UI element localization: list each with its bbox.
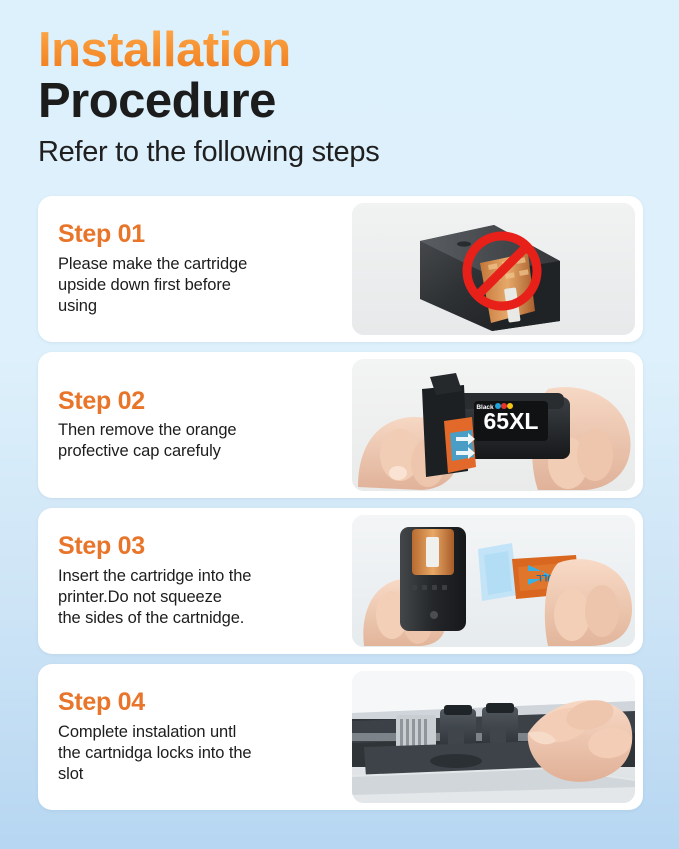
page-title-line-2: Procedure [38, 76, 679, 128]
step-description: Then remove the orange profective cap ca… [58, 420, 352, 462]
step-label: Step 02 [58, 388, 352, 416]
step-label: Step 03 [58, 533, 352, 561]
step-description: Please make the cartridge upside down fi… [58, 254, 352, 317]
step-description: Insert the cartridge into the printer.Do… [58, 566, 352, 629]
page-title-line-1: Installation [38, 26, 679, 74]
step-text-block: Step 01 Please make the cartridge upside… [38, 221, 352, 316]
step-text-block: Step 03 Insert the cartridge into the pr… [38, 533, 352, 628]
steps-list: Step 01 Please make the cartridge upside… [38, 196, 643, 810]
step-text-block: Step 02 Then remove the orange profectiv… [38, 388, 352, 462]
step-description: Complete instalation untl the cartnidga … [58, 722, 352, 785]
pull-protective-tape-photo: PULL [352, 515, 635, 647]
page-header: Installation Procedure Refer to the foll… [0, 0, 679, 169]
step-label: Step 01 [58, 221, 352, 249]
step-card-01: Step 01 Please make the cartridge upside… [38, 196, 643, 342]
cartridge-black-label: Black [476, 404, 494, 411]
step-text-block: Step 04 Complete instalation untl the ca… [38, 689, 352, 784]
step-card-03: Step 03 Insert the cartridge into the pr… [38, 508, 643, 654]
close-printer-carriage-photo [352, 671, 635, 803]
page-subtitle: Refer to the following steps [38, 137, 679, 169]
cartridge-model-label: 65XL [484, 408, 539, 434]
step-card-04: Step 04 Complete instalation untl the ca… [38, 664, 643, 810]
remove-orange-cap-photo: 65XL Black [352, 359, 635, 491]
cartridge-upside-down-prohibited-photo [352, 203, 635, 335]
step-card-02: Step 02 Then remove the orange profectiv… [38, 352, 643, 498]
step-label: Step 04 [58, 689, 352, 717]
